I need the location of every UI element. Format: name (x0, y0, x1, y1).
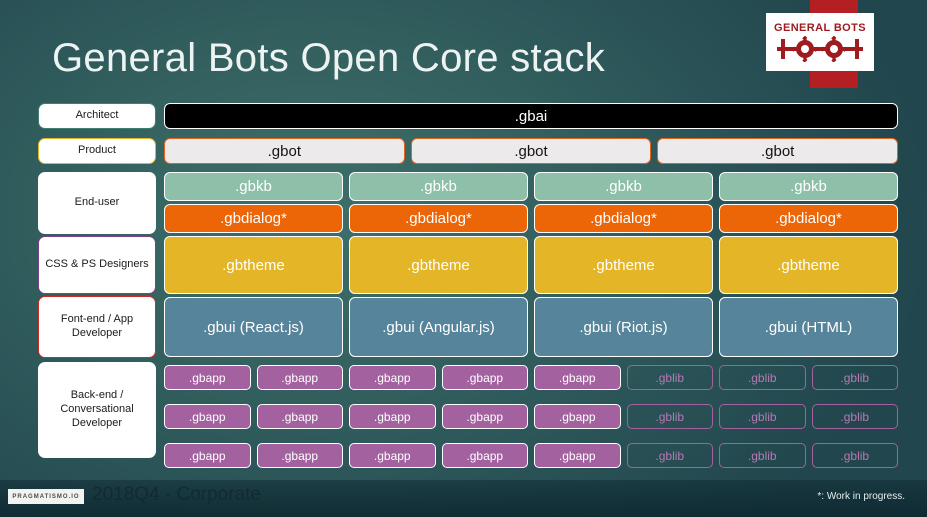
layer-row-gbtheme: .gbtheme .gbtheme .gbtheme .gbtheme (164, 236, 898, 294)
page-title: General Bots Open Core stack (52, 36, 605, 81)
role-label-back-end-conversational-developer: Back-end / Conversational Developer (38, 362, 156, 458)
role-label-product: Product (38, 138, 156, 164)
cell-gbdialog[interactable]: .gbdialog* (719, 204, 898, 233)
layer-row-gbot: .gbot .gbot .gbot (164, 138, 898, 164)
footnote-work-in-progress: *: Work in progress. (817, 491, 905, 502)
cell-gbapp[interactable]: .gbapp (534, 443, 621, 468)
cell-gbapp[interactable]: .gbapp (349, 443, 436, 468)
cell-gbapp[interactable]: .gbapp (534, 404, 621, 429)
layer-row-gbai: .gbai (164, 103, 898, 129)
cell-gbtheme[interactable]: .gbtheme (719, 236, 898, 294)
cell-gbapp[interactable]: .gbapp (164, 365, 251, 390)
cell-gbui-angular[interactable]: .gbui (Angular.js) (349, 297, 528, 357)
cell-gbdialog[interactable]: .gbdialog* (534, 204, 713, 233)
layer-row-gbapp-gblib-3: .gbapp .gbapp .gbapp .gbapp .gbapp .gbli… (164, 443, 898, 468)
cell-gbtheme[interactable]: .gbtheme (349, 236, 528, 294)
cell-gblib[interactable]: .gblib (719, 443, 806, 468)
cell-gbkb[interactable]: .gbkb (719, 172, 898, 201)
role-label-end-user: End-user (38, 172, 156, 234)
cell-gbapp[interactable]: .gbapp (534, 365, 621, 390)
cell-gblib[interactable]: .gblib (812, 443, 899, 468)
cell-gblib[interactable]: .gblib (812, 404, 899, 429)
cell-gblib[interactable]: .gblib (719, 404, 806, 429)
layer-row-gbui: .gbui (React.js) .gbui (Angular.js) .gbu… (164, 297, 898, 357)
footer-bar: PRAGMATISMO.IO 2018Q4 - Corporate *: Wor… (0, 480, 927, 517)
pragmatismo-logo: PRAGMATISMO.IO (8, 489, 84, 504)
cell-gbapp[interactable]: .gbapp (257, 365, 344, 390)
cell-gbapp[interactable]: .gbapp (257, 404, 344, 429)
general-bots-logo: GENERAL BOTS (766, 13, 874, 71)
cell-gblib[interactable]: .gblib (627, 404, 714, 429)
role-label-css-ps-designers: CSS & PS Designers (38, 236, 156, 294)
cell-gbapp[interactable]: .gbapp (442, 404, 529, 429)
stack-diagram: Architect Product End-user CSS & PS Desi… (0, 100, 927, 480)
cell-gbkb[interactable]: .gbkb (534, 172, 713, 201)
logo-wordmark: GENERAL BOTS (774, 23, 866, 34)
cell-gbot[interactable]: .gbot (164, 138, 405, 164)
cell-gbot[interactable]: .gbot (657, 138, 898, 164)
cell-gblib[interactable]: .gblib (627, 365, 714, 390)
role-label-front-end-app-developer: Font-end / App Developer (38, 296, 156, 358)
cell-gbapp[interactable]: .gbapp (164, 443, 251, 468)
cell-gbot[interactable]: .gbot (411, 138, 652, 164)
cell-gbui-html[interactable]: .gbui (HTML) (719, 297, 898, 357)
cell-gbtheme[interactable]: .gbtheme (534, 236, 713, 294)
cell-gblib[interactable]: .gblib (719, 365, 806, 390)
cell-gbapp[interactable]: .gbapp (257, 443, 344, 468)
cell-gbapp[interactable]: .gbapp (442, 365, 529, 390)
cell-gbtheme[interactable]: .gbtheme (164, 236, 343, 294)
cell-gbapp[interactable]: .gbapp (349, 365, 436, 390)
gears-icon (777, 36, 863, 62)
cell-gbapp[interactable]: .gbapp (164, 404, 251, 429)
role-label-architect: Architect (38, 103, 156, 129)
layer-row-gbapp-gblib-1: .gbapp .gbapp .gbapp .gbapp .gbapp .gbli… (164, 365, 898, 390)
layer-row-gbapp-gblib-2: .gbapp .gbapp .gbapp .gbapp .gbapp .gbli… (164, 404, 898, 429)
layer-row-gbdialog: .gbdialog* .gbdialog* .gbdialog* .gbdial… (164, 204, 898, 233)
cell-gblib[interactable]: .gblib (627, 443, 714, 468)
cell-gbai[interactable]: .gbai (164, 103, 898, 129)
cell-gbdialog[interactable]: .gbdialog* (164, 204, 343, 233)
cell-gbkb[interactable]: .gbkb (164, 172, 343, 201)
cell-gbdialog[interactable]: .gbdialog* (349, 204, 528, 233)
slide-canvas: General Bots Open Core stack GENERAL BOT… (0, 0, 927, 517)
layer-row-gbkb: .gbkb .gbkb .gbkb .gbkb (164, 172, 898, 201)
cell-gbapp[interactable]: .gbapp (349, 404, 436, 429)
cell-gbui-react[interactable]: .gbui (React.js) (164, 297, 343, 357)
footer-caption: 2018Q4 - Corporate (92, 484, 261, 506)
cell-gbkb[interactable]: .gbkb (349, 172, 528, 201)
cell-gblib[interactable]: .gblib (812, 365, 899, 390)
cell-gbui-riot[interactable]: .gbui (Riot.js) (534, 297, 713, 357)
cell-gbapp[interactable]: .gbapp (442, 443, 529, 468)
